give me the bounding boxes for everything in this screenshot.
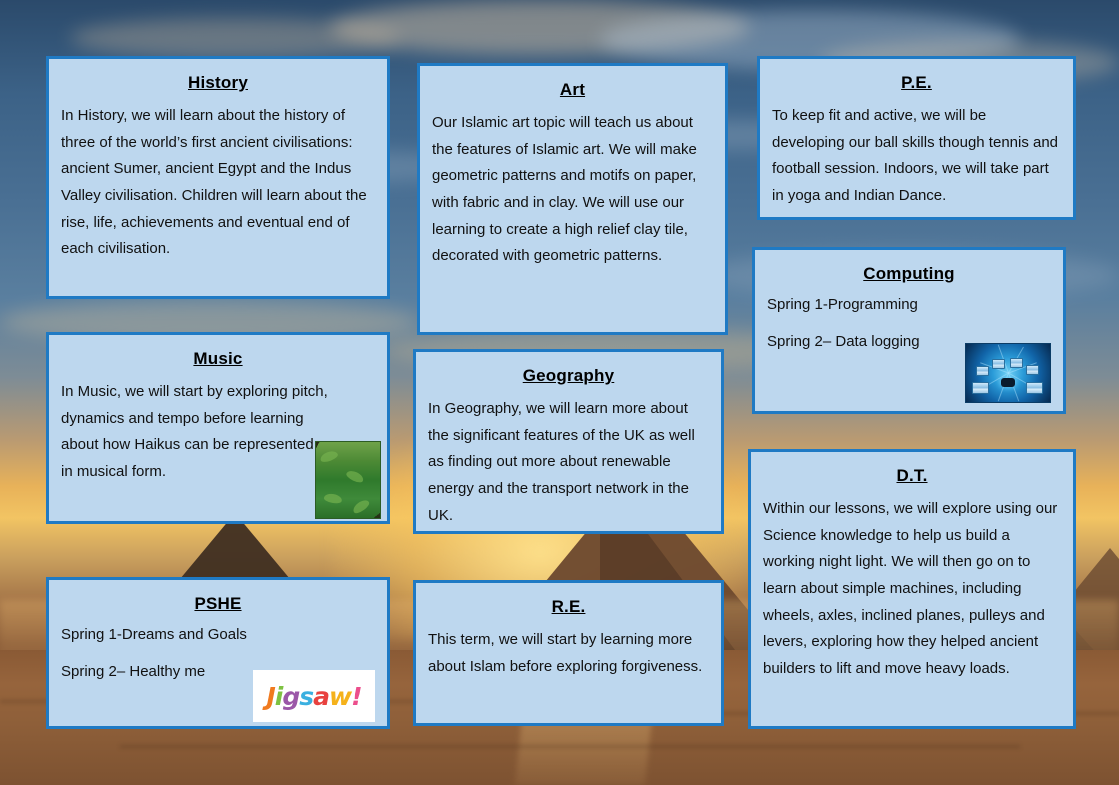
music-body: In Music, we will start by exploring pit… [61, 379, 329, 486]
jigsaw-letter: J [266, 684, 274, 709]
pe-title: P.E. [772, 73, 1061, 93]
jigsaw-letter: i [275, 684, 283, 709]
jigsaw-logo-text: Jigsaw! [266, 684, 361, 709]
subject-box-re: R.E. This term, we will start by learnin… [413, 580, 724, 726]
jigsaw-letter: a [313, 684, 329, 709]
re-body: This term, we will start by learning mor… [428, 627, 709, 680]
art-title: Art [432, 80, 713, 100]
pshe-title: PSHE [61, 594, 375, 614]
jigsaw-logo-image: Jigsaw! [253, 670, 375, 722]
subject-box-geography: Geography In Geography, we will learn mo… [413, 349, 724, 534]
pe-body: To keep fit and active, we will be devel… [772, 103, 1061, 210]
music-title: Music [61, 349, 375, 369]
history-body: In History, we will learn about the hist… [61, 103, 375, 263]
subject-box-dt: D.T. Within our lessons, we will explore… [748, 449, 1076, 729]
history-title: History [61, 73, 375, 93]
subject-box-music: Music In Music, we will start by explori… [46, 332, 390, 524]
jigsaw-letter: w [329, 684, 351, 709]
jigsaw-letter: g [282, 684, 299, 709]
pshe-line-1: Spring 1-Dreams and Goals [61, 624, 375, 647]
computing-line-1: Spring 1-Programming [767, 294, 1051, 317]
subject-box-pshe: PSHE Spring 1-Dreams and Goals Spring 2–… [46, 577, 390, 729]
subject-box-history: History In History, we will learn about … [46, 56, 390, 299]
geography-body: In Geography, we will learn more about t… [428, 396, 709, 529]
jigsaw-letter: ! [351, 684, 361, 709]
subject-box-pe: P.E. To keep fit and active, we will be … [757, 56, 1076, 220]
re-title: R.E. [428, 597, 709, 617]
curriculum-overview-page: History In History, we will learn about … [0, 0, 1119, 785]
geography-title: Geography [428, 366, 709, 386]
computing-network-laptops-image [965, 343, 1051, 403]
art-body: Our Islamic art topic will teach us abou… [432, 110, 713, 270]
subject-box-art: Art Our Islamic art topic will teach us … [417, 63, 728, 335]
sand-streak [120, 745, 1020, 748]
jungle-branches-image [315, 441, 381, 519]
dt-body: Within our lessons, we will explore usin… [763, 496, 1061, 683]
jigsaw-letter: s [299, 684, 313, 709]
subject-box-computing: Computing Spring 1-Programming Spring 2–… [752, 247, 1066, 414]
computing-title: Computing [767, 264, 1051, 284]
dt-title: D.T. [763, 466, 1061, 486]
